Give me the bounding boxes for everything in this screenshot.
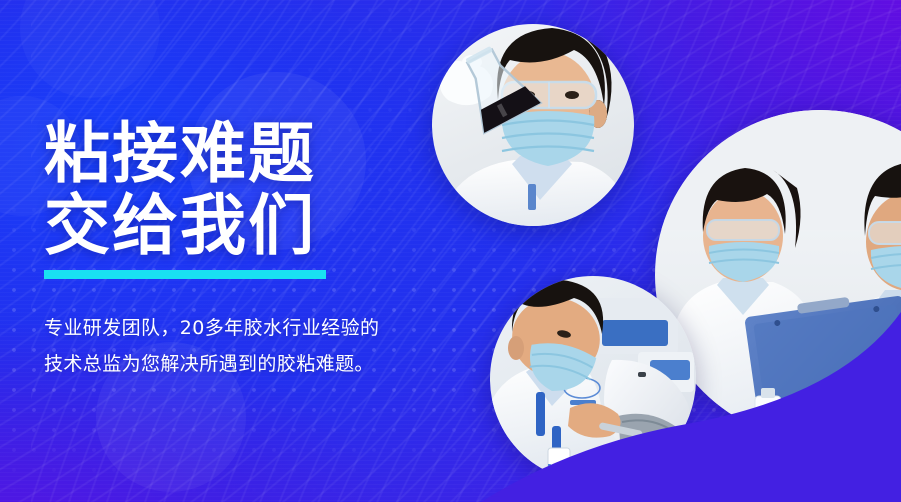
headline-underline-accent xyxy=(44,270,326,279)
headline-line-1: 粘接难题 xyxy=(44,115,316,192)
hero-banner: 粘接难题 交给我们 专业研发团队，20多年胶水行业经验的 技术总监为您解决所遇到… xyxy=(0,0,901,502)
subtitle-line-2: 技术总监为您解决所遇到的胶粘难题。 xyxy=(44,346,474,382)
photo-technician-adhesive xyxy=(490,276,696,482)
photo-illustration xyxy=(490,276,696,482)
subtitle-line-1: 专业研发团队，20多年胶水行业经验的 xyxy=(44,310,474,346)
page-title: 粘接难题 交给我们 xyxy=(44,118,474,262)
hero-subtitle: 专业研发团队，20多年胶水行业经验的 技术总监为您解决所遇到的胶粘难题。 xyxy=(44,310,474,382)
headline-line-2: 交给我们 xyxy=(44,190,474,262)
hero-copy: 粘接难题 交给我们 专业研发团队，20多年胶水行业经验的 技术总监为您解决所遇到… xyxy=(44,118,474,382)
